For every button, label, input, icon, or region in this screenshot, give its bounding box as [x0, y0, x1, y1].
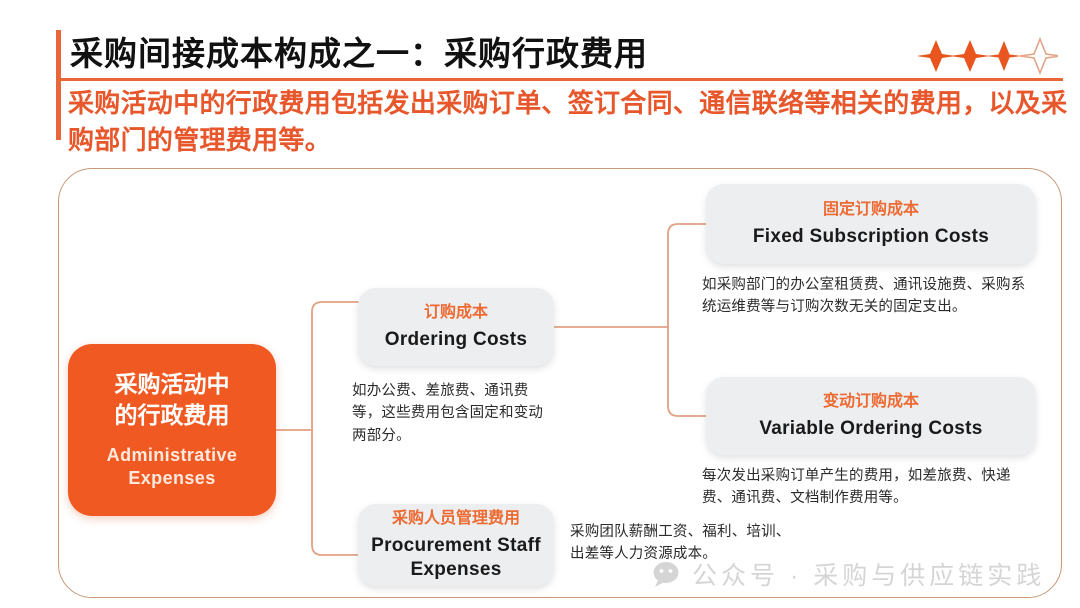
diamond-sparkle-icon: [918, 36, 1058, 76]
node-variable-ordering-costs-cn-label: 变动订购成本: [823, 392, 919, 412]
root-node-cn-line1: 采购活动中: [92, 369, 252, 399]
root-node-en-label: Administrative Expenses: [107, 444, 238, 491]
node-procurement-staff-expenses-en-label: Procurement Staff Expenses: [358, 534, 554, 582]
page-header: 采购间接成本构成之一：采购行政费用 采购活动中的行政费用包括发出采购订单、签订合…: [0, 0, 1080, 160]
root-node-en-line2: Expenses: [107, 467, 238, 490]
page-title: 采购间接成本构成之一：采购行政费用: [70, 27, 648, 75]
node-variable-ordering-costs-en-label: Variable Ordering Costs: [759, 417, 982, 441]
node-procurement-staff-expenses-description: 采购团队薪酬工资、福利、培训、出差等人力资源成本。: [570, 521, 792, 566]
root-node-cn-line2: 的行政费用: [92, 400, 252, 430]
root-node-en-line1: Administrative: [107, 444, 238, 467]
node-fixed-subscription-costs-cn-label: 固定订购成本: [823, 200, 919, 220]
node-ordering-costs-cn-label: 订购成本: [424, 303, 488, 323]
node-ordering-costs[interactable]: 订购成本 Ordering Costs: [358, 288, 554, 366]
node-ordering-costs-description: 如办公费、差旅费、通讯费等，这些费用包含固定和变动两部分。: [352, 380, 548, 447]
node-fixed-subscription-costs[interactable]: 固定订购成本 Fixed Subscription Costs: [706, 184, 1036, 264]
node-procurement-staff-expenses-cn-label: 采购人员管理费用: [392, 509, 520, 529]
node-procurement-staff-expenses[interactable]: 采购人员管理费用 Procurement Staff Expenses: [358, 504, 554, 586]
node-fixed-subscription-costs-en-label: Fixed Subscription Costs: [753, 225, 989, 249]
title-accent-bar: [56, 30, 61, 140]
root-node-cn-label: 采购活动中 的行政费用: [92, 369, 252, 430]
node-ordering-costs-en-label: Ordering Costs: [385, 328, 528, 352]
page-subtitle: 采购活动中的行政费用包括发出采购订单、签订合同、通信联络等相关的费用，以及采购部…: [68, 85, 1068, 159]
node-fixed-subscription-costs-description: 如采购部门的办公室租赁费、通讯设施费、采购系统运维费等与订购次数无关的固定支出。: [702, 274, 1032, 319]
node-variable-ordering-costs-description: 每次发出采购订单产生的费用，如差旅费、快递费、通讯费、文档制作费用等。: [702, 465, 1032, 510]
node-variable-ordering-costs[interactable]: 变动订购成本 Variable Ordering Costs: [706, 377, 1036, 455]
title-divider-rule: [58, 78, 1063, 81]
root-node-administrative-expenses[interactable]: 采购活动中 的行政费用 Administrative Expenses: [68, 344, 276, 516]
